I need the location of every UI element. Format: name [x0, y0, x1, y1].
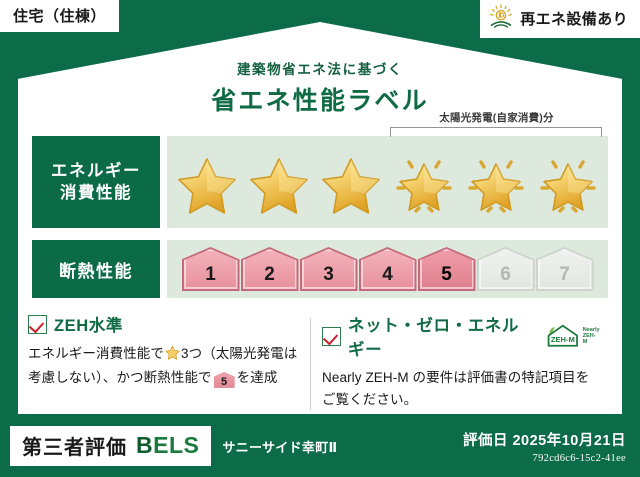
evaluation-id: 792cd6c6-15c2-41ee — [463, 453, 626, 464]
bels-logo: BELS — [136, 432, 199, 459]
zeh-standard-heading: ZEH水準 — [28, 312, 306, 336]
net-zero-heading: ネット・ゼロ・エネルギー ZEH-M Nearly ZEH-M — [322, 312, 600, 360]
energy-star-panel: 太陽光発電(自家消費)分 — [167, 136, 608, 228]
grade-1-value: 1 — [205, 264, 216, 286]
insulation-grade-group: 1 2 3 4 5 — [167, 249, 608, 289]
zeh-standard-info: ZEH水準 エネルギー消費性能で 3つ（太陽光発電は考慮しない）、かつ断熱性能で… — [28, 312, 306, 389]
grade-1: 1 — [184, 249, 238, 289]
energy-label-line1: エネルギー — [51, 160, 141, 182]
check-icon — [322, 327, 341, 346]
evaluation-meta: 評価日 2025年10月21日 792cd6c6-15c2-41ee — [463, 429, 626, 464]
solar-sun-icon — [488, 4, 514, 33]
evaluation-date: 評価日 2025年10月21日 — [463, 429, 626, 450]
energy-row-label: エネルギー 消費性能 — [32, 136, 160, 228]
grade-3: 3 — [302, 249, 356, 289]
star-1 — [176, 154, 238, 216]
star-3 — [320, 154, 382, 216]
svg-text:ZEH-M: ZEH-M — [551, 335, 575, 344]
grade-4: 4 — [361, 249, 415, 289]
grade-3-value: 3 — [323, 264, 334, 286]
zeh-body-part3: を達成 — [237, 370, 278, 385]
bels-logo-b: B — [136, 432, 153, 458]
star-6-solar — [537, 154, 599, 216]
grade-2: 2 — [243, 249, 297, 289]
grade-7: 7 — [538, 249, 592, 289]
label-main-title: 省エネ性能ラベル — [0, 81, 640, 117]
grade-6-value: 6 — [500, 264, 511, 286]
zeh-body-part1: エネルギー消費性能で — [28, 346, 164, 361]
star-2 — [248, 154, 310, 216]
grade-2-value: 2 — [264, 264, 275, 286]
building-type-tag: 住宅（住棟） — [0, 0, 119, 32]
bels-logo-els: ELS — [153, 432, 199, 458]
renewable-equipment-badge: 再エネ設備あり — [480, 0, 640, 38]
renewable-badge-label: 再エネ設備あり — [520, 8, 628, 29]
grade-7-value: 7 — [559, 264, 570, 286]
label-subtitle: 建築物省エネ法に基づく — [0, 58, 640, 78]
net-zero-energy-info: ネット・ゼロ・エネルギー ZEH-M Nearly ZEH-M Nearly Z… — [322, 312, 600, 411]
net-zero-title: ネット・ゼロ・エネルギー — [348, 312, 534, 360]
star-rating-group — [167, 154, 608, 216]
insulation-performance-row: 断熱性能 1 2 3 4 — [32, 240, 608, 298]
zeh-standard-body: エネルギー消費性能で 3つ（太陽光発電は考慮しない）、かつ断熱性能で5を達成 — [28, 343, 306, 389]
grade-6: 6 — [479, 249, 533, 289]
bels-certification-box: 第三者評価 BELS — [10, 426, 211, 466]
energy-performance-label: 住宅（住棟） 再エネ設備あり 建築物省エ — [0, 0, 640, 477]
bottom-bar: 第三者評価 BELS サニーサイド幸町Ⅱ 評価日 2025年10月21日 792… — [0, 415, 640, 477]
insulation-row-label: 断熱性能 — [32, 240, 160, 298]
energy-performance-row: エネルギー 消費性能 太陽光発電(自家消費)分 — [32, 136, 608, 228]
inline-grade-badge: 5 — [214, 372, 235, 388]
star-4-solar — [393, 154, 455, 216]
grade-5-value: 5 — [441, 264, 452, 286]
grade-4-value: 4 — [382, 264, 393, 286]
grade-5-achieved: 5 — [420, 249, 474, 289]
zeh-standard-title: ZEH水準 — [54, 312, 123, 336]
solar-bracket — [390, 127, 602, 137]
zeh-m-logo-sub2: ZEH-M — [583, 333, 600, 345]
check-icon — [28, 315, 47, 334]
insulation-grade-panel: 1 2 3 4 5 — [167, 240, 608, 298]
third-party-eval-label: 第三者評価 — [22, 431, 127, 460]
info-divider — [310, 318, 311, 410]
label-title-block: 建築物省エネ法に基づく 省エネ性能ラベル — [0, 58, 640, 117]
property-name: サニーサイド幸町Ⅱ — [222, 437, 337, 456]
star-5-solar — [465, 154, 527, 216]
inline-star-icon — [165, 345, 180, 367]
energy-label-line2: 消費性能 — [60, 182, 132, 204]
net-zero-body: Nearly ZEH-M の要件は評価書の特記項目をご覧ください。 — [322, 367, 600, 411]
zeh-m-logo: ZEH-M Nearly ZEH-M — [545, 323, 600, 349]
